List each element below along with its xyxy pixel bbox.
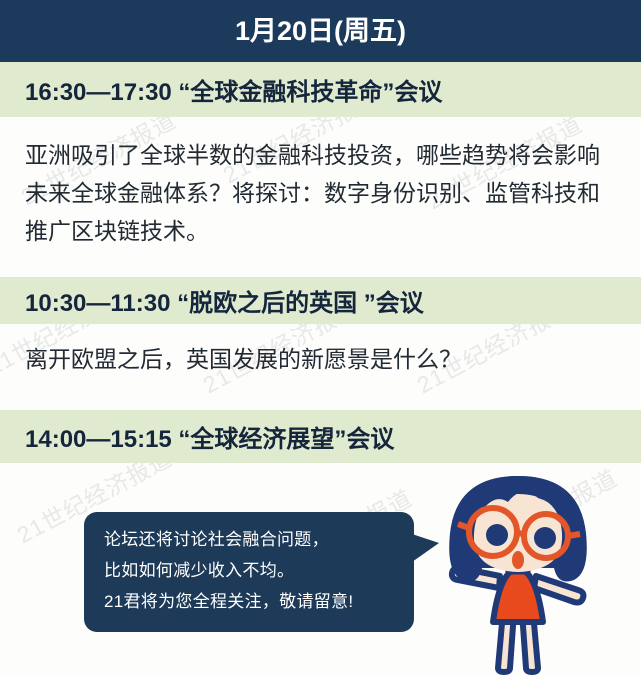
session-bar: 14:00—15:15 “全球经济展望”会议	[0, 410, 641, 463]
speech-bubble: 论坛还将讨论社会融合问题， 比如如何减少收入不均。 21君将为您全程关注，敬请留…	[84, 512, 414, 632]
session-title: 14:00—15:15 “全球经济展望”会议	[25, 410, 394, 463]
session-title: 10:30—11:30 “脱欧之后的英国 ”会议	[25, 277, 424, 324]
mascot-girl-icon	[438, 472, 613, 676]
session-description: 亚洲吸引了全球半数的金融科技投资，哪些趋势将会影响未来全球金融体系？将探讨：数字…	[25, 136, 613, 250]
session-title: 16:30—17:30 “全球金融科技革命”会议	[25, 62, 442, 117]
session-description: 离开欧盟之后，英国发展的新愿景是什么？	[25, 340, 613, 378]
speech-bubble-line: 论坛还将讨论社会融合问题，	[104, 524, 404, 555]
session-bar: 10:30—11:30 “脱欧之后的英国 ”会议	[0, 277, 641, 324]
mascot-mouth	[512, 551, 524, 569]
speech-bubble-line: 21君将为您全程关注，敬请留意!	[104, 586, 404, 617]
poster-root: 21世纪经济报道 21世纪经济报道 21世纪经济报道 21世纪经济报道 21世纪…	[0, 0, 641, 676]
mascot-illustration	[438, 472, 613, 676]
speech-bubble-line: 比如如何减少收入不均。	[104, 555, 404, 586]
date-header-label: 1月20日(周五)	[0, 0, 641, 62]
speech-bubble-tail	[412, 534, 439, 562]
session-bar: 16:30—17:30 “全球金融科技革命”会议	[0, 62, 641, 117]
speech-bubble-text: 论坛还将讨论社会融合问题， 比如如何减少收入不均。 21君将为您全程关注，敬请留…	[104, 524, 404, 617]
date-header: 1月20日(周五)	[0, 0, 641, 62]
